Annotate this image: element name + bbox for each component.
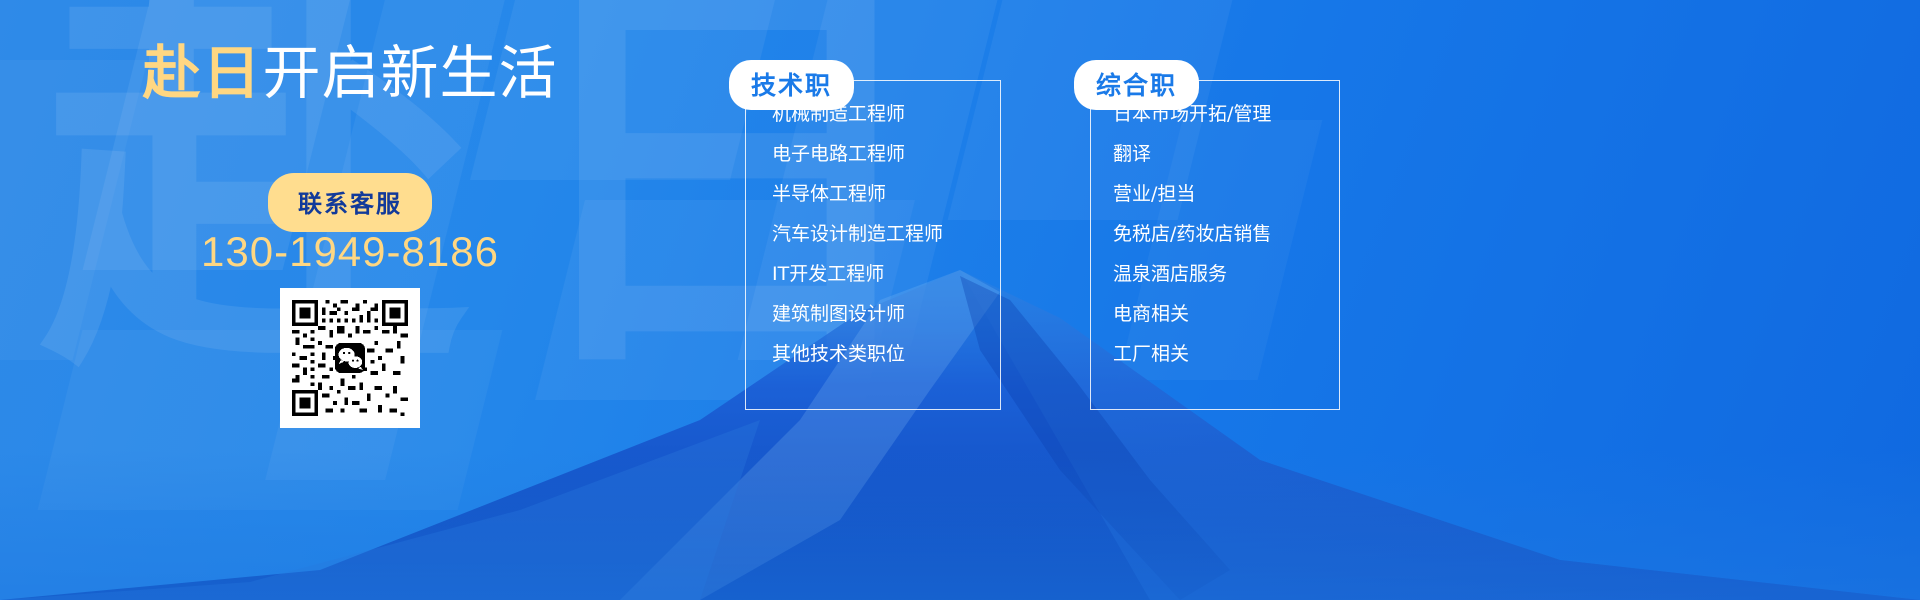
job-column-technical: 技术职 机械制造工程师 电子电路工程师 半导体工程师 汽车设计制造工程师 IT开… [745, 80, 1001, 410]
job-column-general: 综合职 日本市场开拓/管理 翻译 营业/担当 免税店/药妆店销售 温泉酒店服务 … [1090, 80, 1342, 410]
list-item[interactable]: 翻译 [1113, 145, 1339, 164]
wechat-qr-code[interactable] [280, 288, 420, 428]
list-item[interactable]: 营业/担当 [1113, 185, 1339, 204]
job-column-box-technical: 机械制造工程师 电子电路工程师 半导体工程师 汽车设计制造工程师 IT开发工程师… [745, 80, 1001, 410]
qr-code-image [288, 296, 412, 420]
list-item[interactable]: 建筑制图设计师 [772, 305, 1000, 324]
list-item[interactable]: 其他技术类职位 [772, 345, 1000, 364]
job-list-technical: 机械制造工程师 电子电路工程师 半导体工程师 汽车设计制造工程师 IT开发工程师… [772, 105, 1000, 364]
left-panel: 赴日开启新生活 联系客服 130-1949-8186 [0, 0, 700, 600]
list-item[interactable]: 电子电路工程师 [772, 145, 1000, 164]
headline-plain: 开启新生活 [263, 39, 558, 107]
job-column-badge-technical[interactable]: 技术职 [729, 60, 854, 110]
headline-accent: 赴日 [142, 39, 262, 107]
list-item[interactable]: 工厂相关 [1113, 345, 1339, 364]
promo-banner: 赴日 [0, 0, 1920, 600]
job-column-badge-general[interactable]: 综合职 [1074, 60, 1199, 110]
job-column-box-general: 日本市场开拓/管理 翻译 营业/担当 免税店/药妆店销售 温泉酒店服务 电商相关… [1090, 80, 1340, 410]
phone-number: 130-1949-8186 [0, 228, 700, 276]
list-item[interactable]: 温泉酒店服务 [1113, 265, 1339, 284]
list-item[interactable]: 免税店/药妆店销售 [1113, 225, 1339, 244]
list-item[interactable]: 半导体工程师 [772, 185, 1000, 204]
list-item[interactable]: 汽车设计制造工程师 [772, 225, 1000, 244]
contact-support-button[interactable]: 联系客服 [268, 173, 432, 232]
job-list-general: 日本市场开拓/管理 翻译 营业/担当 免税店/药妆店销售 温泉酒店服务 电商相关… [1113, 105, 1339, 364]
list-item[interactable]: 电商相关 [1113, 305, 1339, 324]
headline: 赴日开启新生活 [0, 44, 700, 102]
list-item[interactable]: IT开发工程师 [772, 265, 1000, 284]
